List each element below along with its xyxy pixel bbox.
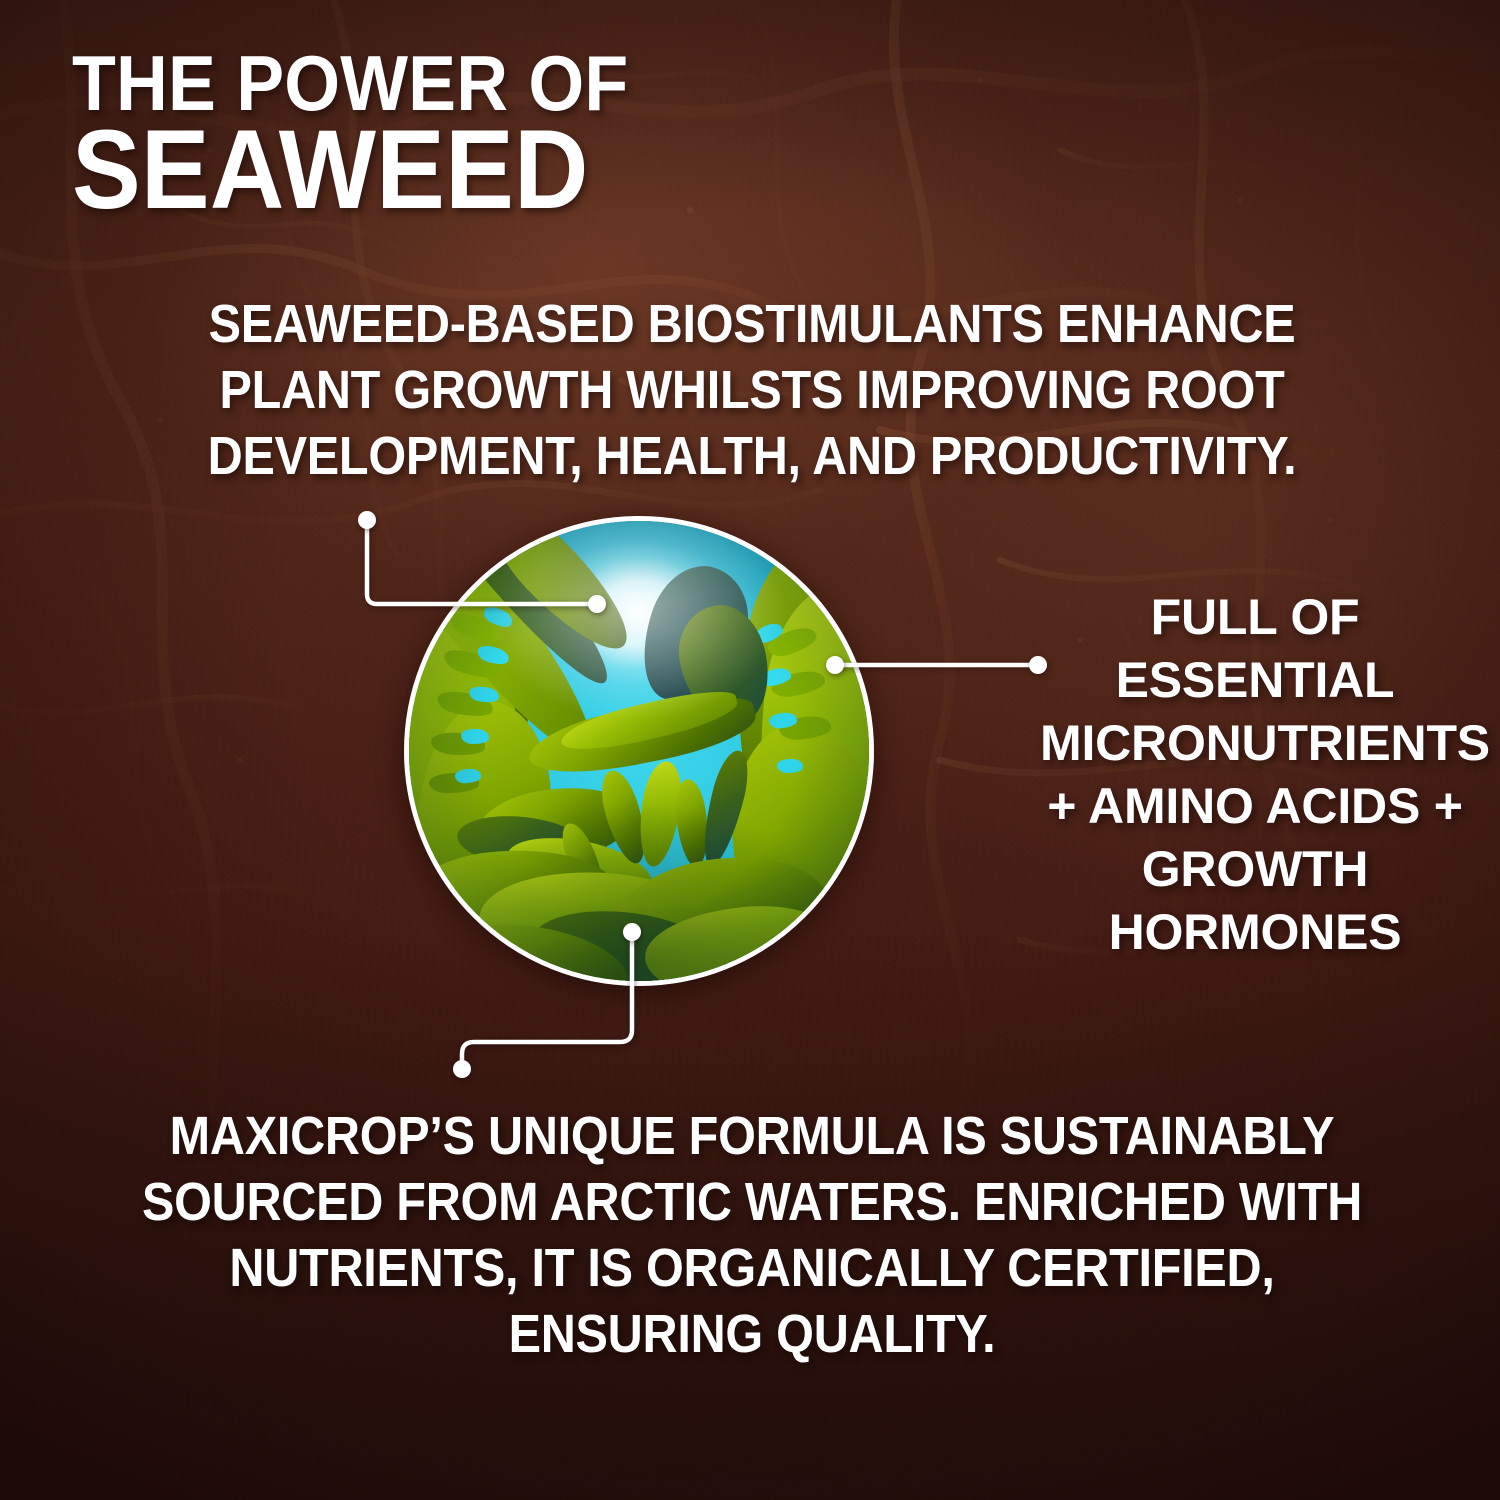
kelp-underwater-illustration <box>409 521 869 981</box>
kelp-photo-circle <box>404 516 874 986</box>
top-paragraph: SEAWEED-BASED BIOSTIMULANTS ENHANCE PLAN… <box>122 292 1382 490</box>
bottom-paragraph: MAXICROP’S UNIQUE FORMULA IS SUSTAINABLY… <box>122 1104 1382 1368</box>
right-callout-text: FULL OF ESSENTIAL MICRONUTRIENTS + AMINO… <box>1040 586 1470 964</box>
connector-dot <box>453 1060 471 1078</box>
page-title-line-2: SEAWEED <box>72 114 589 226</box>
kelp-lighting-overlay <box>409 521 869 981</box>
seaweed-infographic-poster: THE POWER OF SEAWEED SEAWEED-BASED BIOST… <box>0 0 1500 1500</box>
connector-dot <box>358 511 376 529</box>
